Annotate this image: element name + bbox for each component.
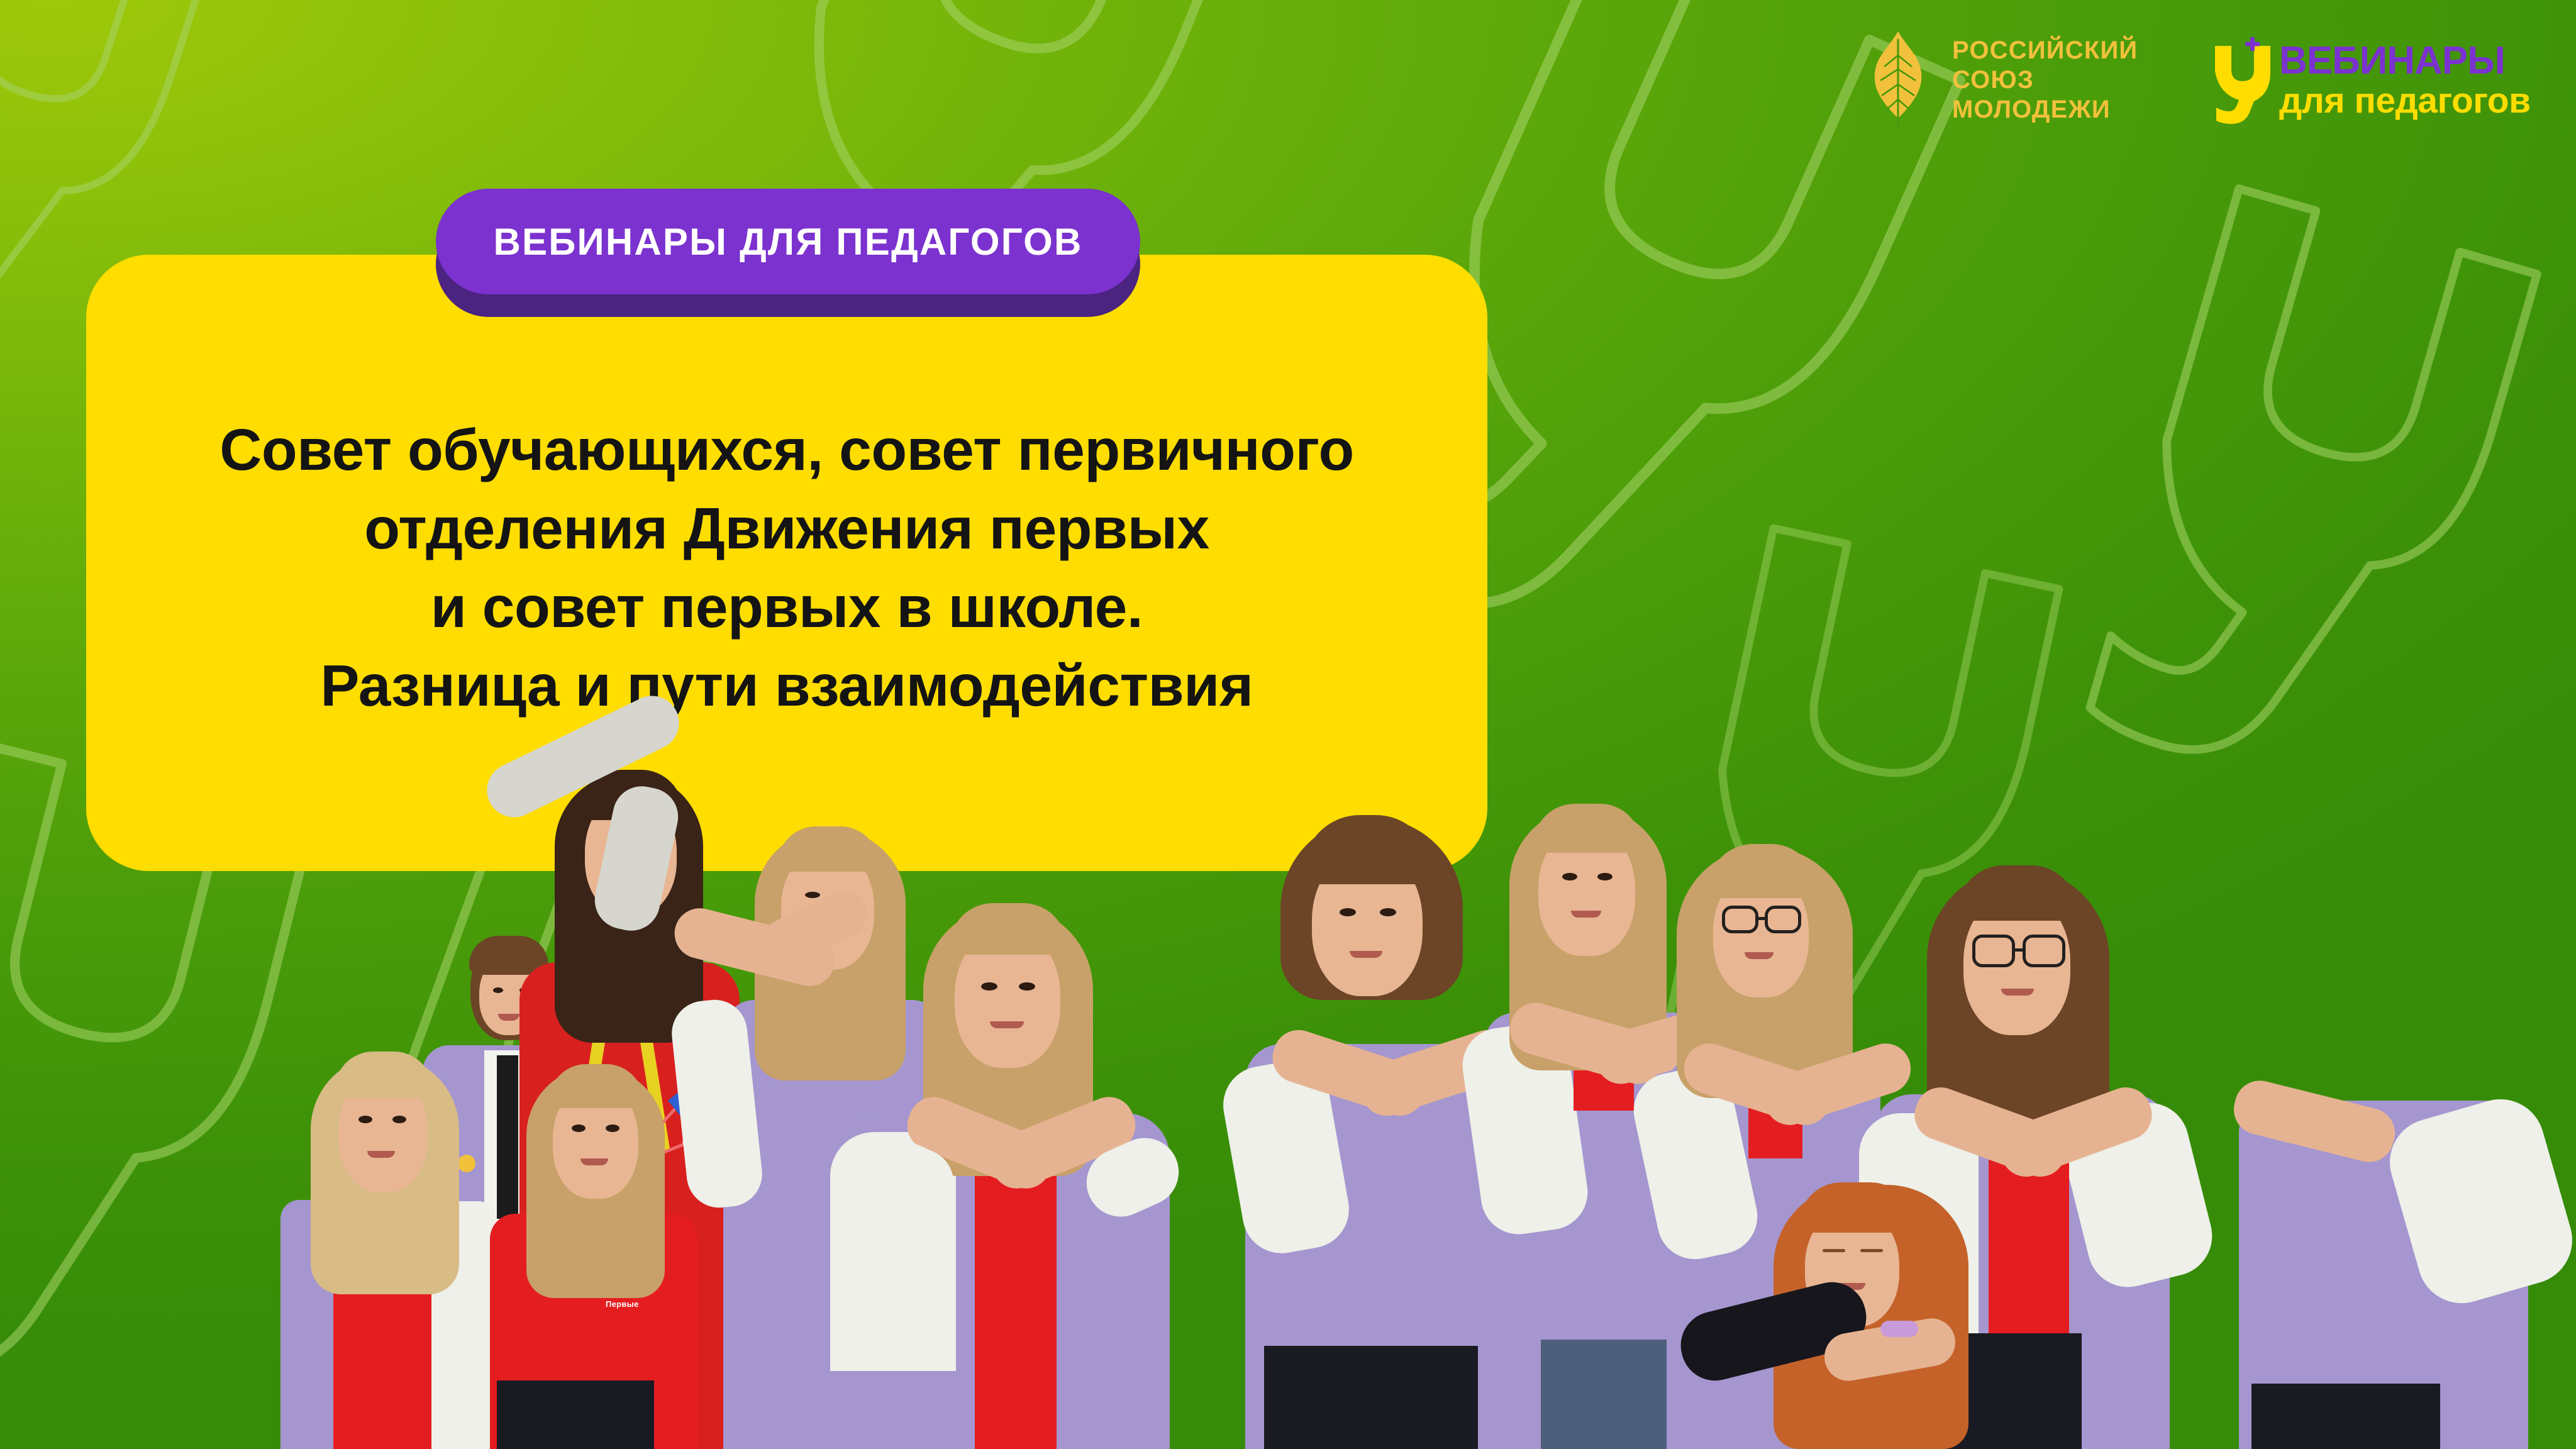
rsm-logo-text: РОССИЙСКИЙ СОЮЗ МОЛОДЕЖИ (1952, 36, 2138, 125)
rsm-logo: РОССИЙСКИЙ СОЮЗ МОЛОДЕЖИ (1862, 26, 2113, 133)
webinar-badge: ВЕБИНАРЫ ДЛЯ ПЕДАГОГОВ (436, 189, 1140, 318)
badge-face: ВЕБИНАРЫ ДЛЯ ПЕДАГОГОВ (436, 189, 1140, 294)
webinars-logo-line2: для педагогов (2279, 83, 2531, 119)
webinars-logo: ВЕБИНАРЫ для педагогов (2212, 33, 2552, 127)
glasses-icon (1722, 906, 1758, 933)
poster-canvas: Совет обучающихся, совет первичного отде… (0, 0, 2576, 1449)
badge-label: ВЕБИНАРЫ ДЛЯ ПЕДАГОГОВ (493, 220, 1082, 264)
u-plus-icon (2212, 36, 2270, 124)
students-photo: Первые Первые (553, 698, 2576, 1449)
person-rightmost-edge (2214, 887, 2576, 1449)
glasses-icon-4 (2023, 935, 2065, 967)
person-center-heart (792, 862, 1233, 1449)
glasses-icon-3 (1972, 935, 2015, 967)
uniform-badge-label: Первые (606, 1299, 639, 1309)
card-title: Совет обучающихся, совет первичного отде… (86, 411, 1487, 725)
webinars-logo-line1: ВЕБИНАРЫ (2279, 42, 2531, 80)
person-ginger-crouched (1679, 1163, 2031, 1449)
glasses-icon-2 (1765, 906, 1801, 933)
person-front-middle-pants (497, 1380, 654, 1449)
leaf-icon (1862, 30, 1935, 130)
webinars-logo-text: ВЕБИНАРЫ для педагогов (2279, 42, 2531, 119)
